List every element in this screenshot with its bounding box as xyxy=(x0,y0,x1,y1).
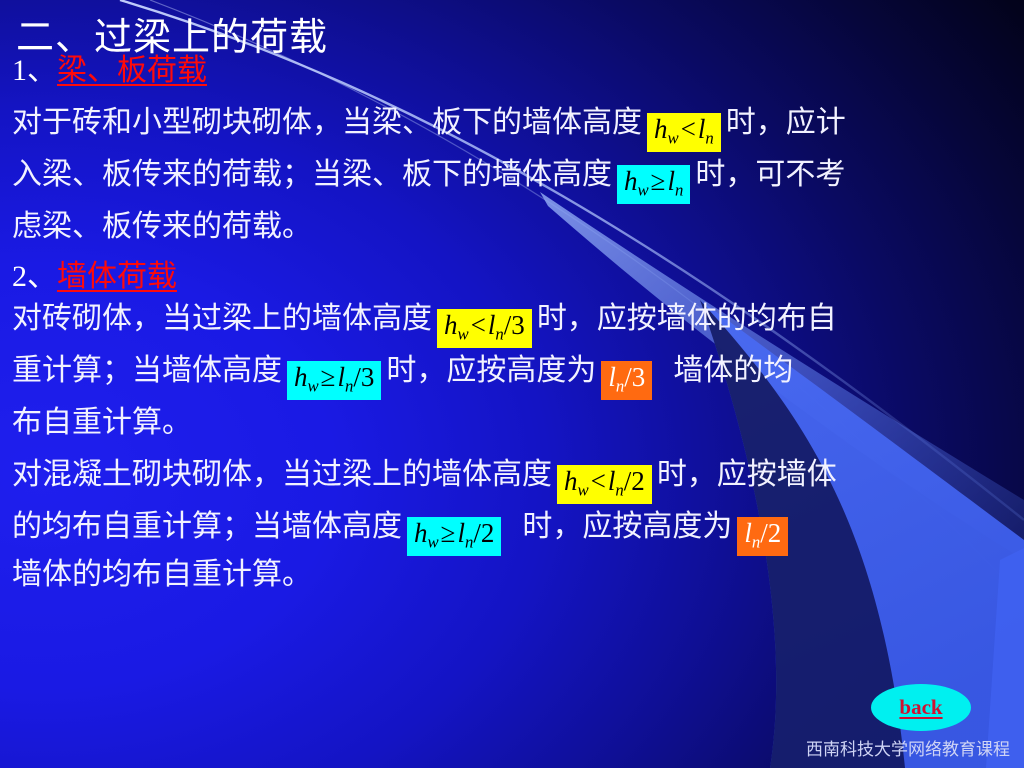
body-text: 时，应按高度为 xyxy=(522,510,732,543)
section-2-title[interactable]: 墙体荷载 xyxy=(57,260,177,293)
section-1-title[interactable]: 梁、板荷载 xyxy=(57,54,207,87)
section-1-heading: 1、梁、板荷载 xyxy=(12,56,207,86)
math-chip-ln-2: ln/2 xyxy=(737,517,788,556)
body-text: 时，应按墙体 xyxy=(657,458,837,491)
slide-content: 二、过梁上的荷载 1、梁、板荷载 对于砖和小型砌块砌体，当梁、板下的墙体高度hw… xyxy=(0,0,1024,768)
section-1-number: 1、 xyxy=(12,54,57,87)
math-chip-ln-3: ln/3 xyxy=(601,361,652,400)
body-text: 入梁、板传来的荷载；当梁、板下的墙体高度 xyxy=(12,158,612,191)
math-chip-hw-lt-ln-2: hw<ln/2 xyxy=(557,465,652,504)
body-line-9: 墙体的均布自重计算。 xyxy=(12,560,312,590)
body-text: 时，应按墙体的均布自 xyxy=(537,302,837,335)
page-title: 二、过梁上的荷载 xyxy=(16,6,328,61)
body-line-1: 对于砖和小型砌块砌体，当梁、板下的墙体高度hw<ln时，应计 xyxy=(12,108,846,152)
back-button-label: back xyxy=(899,695,942,720)
math-chip-hw-ge-ln-3: hw≥ln/3 xyxy=(287,361,381,400)
section-2-heading: 2、墙体荷载 xyxy=(12,262,177,292)
body-line-6: 布自重计算。 xyxy=(12,408,192,438)
body-line-5: 重计算；当墙体高度hw≥ln/3时，应按高度为ln/3墙体的均 xyxy=(12,356,793,400)
footer-credit: 西南科技大学网络教育课程 xyxy=(0,735,1010,760)
body-line-8: 的均布自重计算；当墙体高度hw≥ln/2时，应按高度为ln/2 xyxy=(12,512,793,556)
math-chip-hw-ge-ln-2: hw≥ln/2 xyxy=(407,517,501,556)
slide-canvas: 二、过梁上的荷载 1、梁、板荷载 对于砖和小型砌块砌体，当梁、板下的墙体高度hw… xyxy=(0,0,1024,768)
math-chip-hw-lt-ln-3: hw<ln/3 xyxy=(437,309,532,348)
body-text: 对混凝土砌块砌体，当过梁上的墙体高度 xyxy=(12,458,552,491)
body-text: 布自重计算。 xyxy=(12,406,192,439)
body-text: 时，可不考 xyxy=(695,158,845,191)
body-text: 墙体的均布自重计算。 xyxy=(12,558,312,591)
body-text: 对砖砌体，当过梁上的墙体高度 xyxy=(12,302,432,335)
body-text: 墙体的均 xyxy=(673,354,793,387)
section-2-number: 2、 xyxy=(12,260,57,293)
back-button[interactable]: back xyxy=(871,684,971,731)
body-text: 虑梁、板传来的荷载。 xyxy=(12,210,312,243)
body-line-7: 对混凝土砌块砌体，当过梁上的墙体高度hw<ln/2时，应按墙体 xyxy=(12,460,837,504)
math-chip-hw-lt-ln: hw<ln xyxy=(647,113,721,152)
body-text: 时，应按高度为 xyxy=(386,354,596,387)
body-line-4: 对砖砌体，当过梁上的墙体高度hw<ln/3时，应按墙体的均布自 xyxy=(12,304,837,348)
math-chip-hw-ge-ln: hw≥ln xyxy=(617,165,690,204)
body-text: 时，应计 xyxy=(726,106,846,139)
body-line-3: 虑梁、板传来的荷载。 xyxy=(12,212,312,242)
body-line-2: 入梁、板传来的荷载；当梁、板下的墙体高度hw≥ln时，可不考 xyxy=(12,160,845,204)
body-text: 的均布自重计算；当墙体高度 xyxy=(12,510,402,543)
body-text: 重计算；当墙体高度 xyxy=(12,354,282,387)
body-text: 对于砖和小型砌块砌体，当梁、板下的墙体高度 xyxy=(12,106,642,139)
